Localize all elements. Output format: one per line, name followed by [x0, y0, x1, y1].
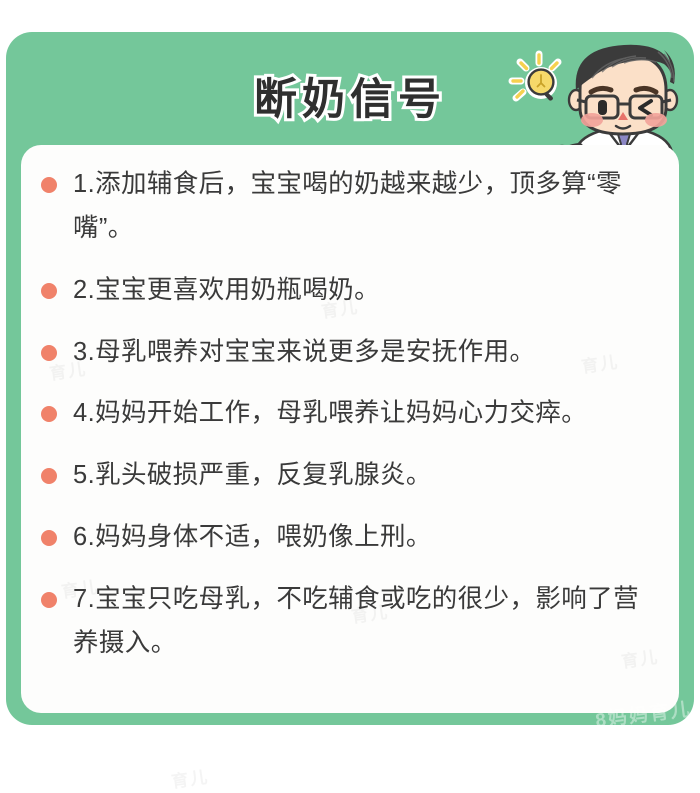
bullet-icon — [41, 177, 57, 193]
list-item: 1.添加辅食后，宝宝喝的奶越来越少，顶多算“零嘴”。 — [21, 163, 679, 251]
signal-list: 1.添加辅食后，宝宝喝的奶越来越少，顶多算“零嘴”。 2.宝宝更喜欢用奶瓶喝奶。… — [21, 163, 679, 666]
watermark: 育儿 — [169, 762, 210, 792]
bullet-icon — [41, 406, 57, 422]
bullet-icon — [41, 468, 57, 484]
list-item: 2.宝宝更喜欢用奶瓶喝奶。 — [21, 269, 679, 313]
list-item-text: 1.添加辅食后，宝宝喝的奶越来越少，顶多算“零嘴”。 — [73, 163, 657, 251]
list-item-text: 6.妈妈身体不适，喂奶像上刑。 — [73, 516, 657, 560]
list-item-text: 5.乳头破损严重，反复乳腺炎。 — [73, 454, 657, 498]
list-item: 5.乳头破损严重，反复乳腺炎。 — [21, 454, 679, 498]
bullet-icon — [41, 345, 57, 361]
list-item-text: 3.母乳喂养对宝宝来说更多是安抚作用。 — [73, 331, 657, 375]
list-item: 4.妈妈开始工作，母乳喂养让妈妈心力交瘁。 — [21, 392, 679, 436]
list-item-text: 4.妈妈开始工作，母乳喂养让妈妈心力交瘁。 — [73, 392, 657, 436]
content-card: 1.添加辅食后，宝宝喝的奶越来越少，顶多算“零嘴”。 2.宝宝更喜欢用奶瓶喝奶。… — [21, 145, 679, 713]
poster-header: 断奶信号 — [0, 32, 700, 150]
list-item-text: 7.宝宝只吃母乳，不吃辅食或吃的很少，影响了营养摄入。 — [73, 578, 657, 666]
list-item: 3.母乳喂养对宝宝来说更多是安抚作用。 — [21, 331, 679, 375]
list-item: 7.宝宝只吃母乳，不吃辅食或吃的很少，影响了营养摄入。 — [21, 578, 679, 666]
list-item: 6.妈妈身体不适，喂奶像上刑。 — [21, 516, 679, 560]
bullet-icon — [41, 530, 57, 546]
bullet-icon — [41, 592, 57, 608]
list-item-text: 2.宝宝更喜欢用奶瓶喝奶。 — [73, 269, 657, 313]
poster-root: 断奶信号 — [0, 0, 700, 733]
bullet-icon — [41, 283, 57, 299]
